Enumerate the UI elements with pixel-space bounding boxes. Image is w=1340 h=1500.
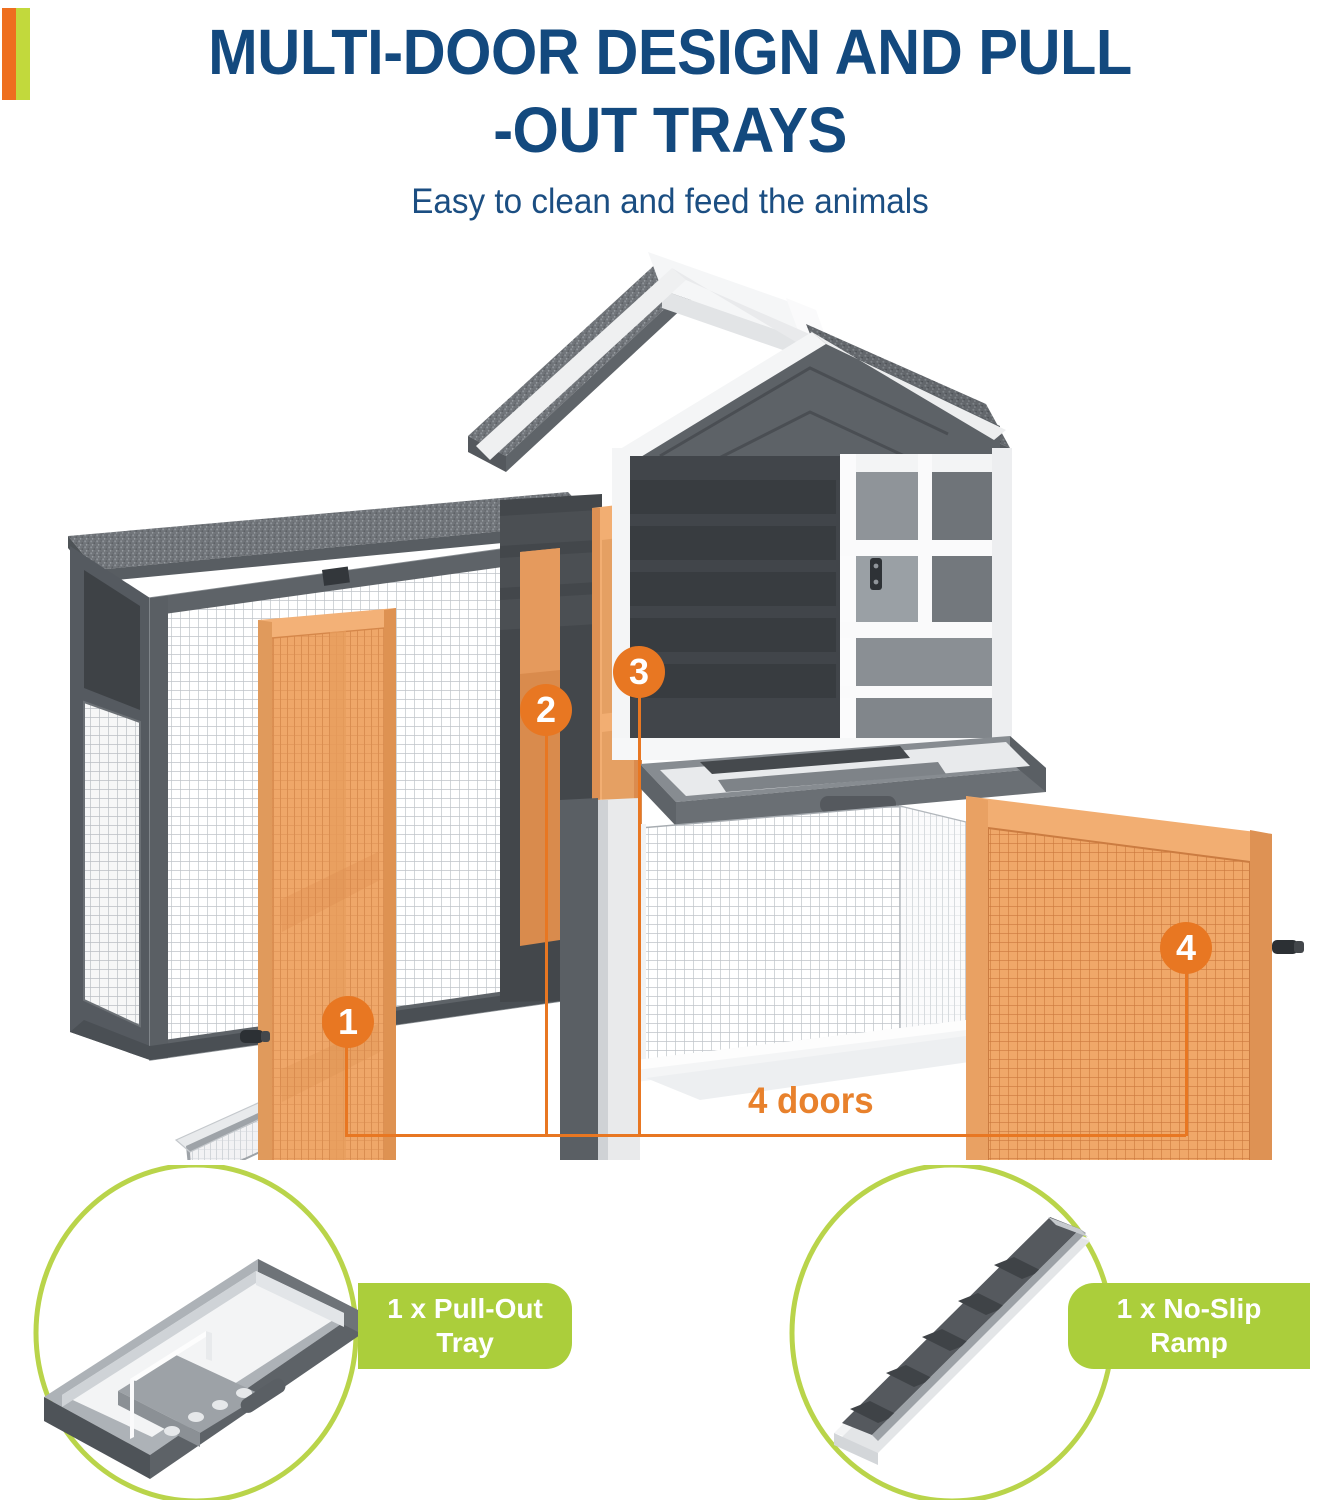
page-title-line-2: -OUT TRAYS [47, 92, 1293, 168]
leader-line-2 [545, 734, 548, 1136]
page-subtitle: Easy to clean and feed the animals [34, 182, 1307, 222]
product-illustration [0, 240, 1340, 1160]
accessory-no-slip-ramp: 1 x No-Slip Ramp [670, 1165, 1340, 1500]
infographic-page: MULTI-DOOR DESIGN AND PULL -OUT TRAYS Ea… [0, 0, 1340, 1500]
accessory-pull-out-tray: 1 x Pull-Out Tray [0, 1165, 670, 1500]
callout-badge-4[interactable]: 4 [1160, 922, 1212, 974]
accessory-label-pull-out-tray: 1 x Pull-Out Tray [358, 1283, 572, 1369]
hutch-sliding-door [840, 454, 1010, 756]
doors-count-label: 4 doors [748, 1080, 874, 1122]
header-text-block: MULTI-DOOR DESIGN AND PULL -OUT TRAYS Ea… [0, 0, 1340, 222]
door-1-orange [240, 608, 396, 1160]
callout-badge-1[interactable]: 1 [322, 996, 374, 1048]
leader-line-1 [345, 1046, 348, 1136]
ramp-graphic [834, 1217, 1090, 1465]
callout-badge-3[interactable]: 3 [613, 646, 665, 698]
center-post-dark [560, 798, 598, 1160]
leader-line-4 [1185, 972, 1188, 1136]
left-run-side-panel [70, 546, 150, 1060]
door-4-orange [966, 796, 1304, 1160]
callout-baseline [345, 1134, 1186, 1137]
leader-line-3 [638, 696, 641, 1136]
callout-badge-2[interactable]: 2 [520, 684, 572, 736]
accessory-label-no-slip-ramp: 1 x No-Slip Ramp [1068, 1283, 1310, 1369]
page-title-line-1: MULTI-DOOR DESIGN AND PULL [47, 12, 1293, 92]
